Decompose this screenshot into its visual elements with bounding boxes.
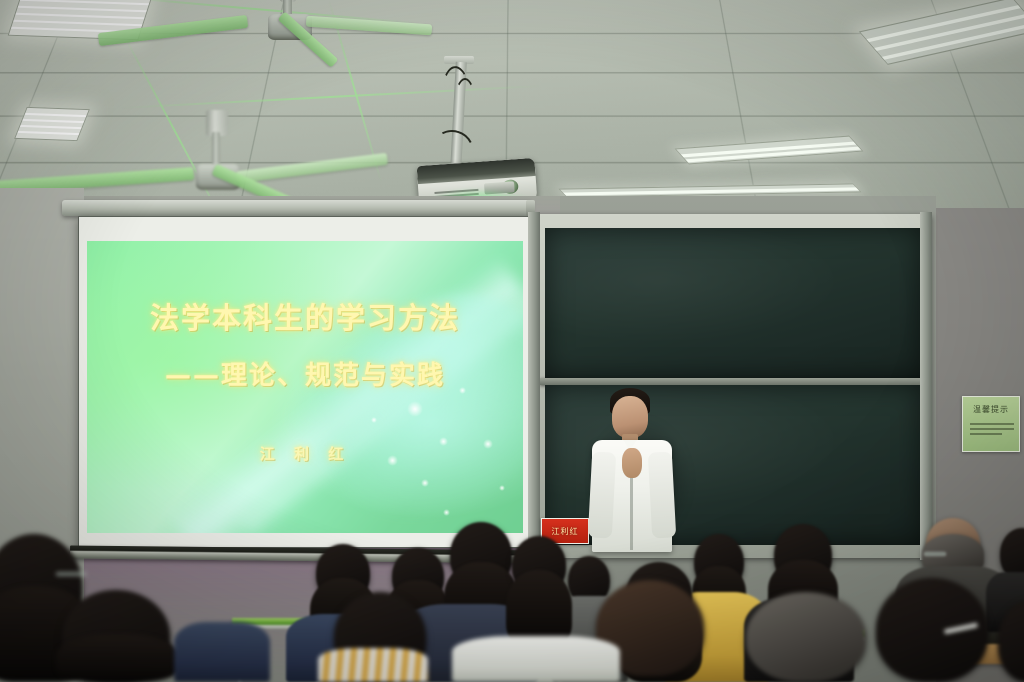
projected-slide: 法学本科生的学习方法 ——理论、规范与实践 江 利 红: [87, 241, 523, 533]
audience-head-foreground: [746, 592, 866, 682]
eyeglasses-icon: [56, 572, 86, 576]
light-panel-icon: [14, 107, 90, 141]
projection-screen: 法学本科生的学习方法 ——理论、规范与实践 江 利 红: [78, 216, 530, 548]
audience-hair-foreground: [56, 634, 180, 682]
presenter-left-arm: [588, 451, 616, 538]
blackboard-right-jamb: [920, 212, 932, 560]
ceiling-fan-icon: [180, 110, 390, 200]
audience-body-foreground: [174, 622, 270, 682]
presenter-right-arm: [648, 451, 676, 538]
slide-sparkle: [371, 417, 377, 423]
notice-sign-title: 温馨提示: [963, 404, 1019, 415]
slide-sparkle: [421, 479, 429, 487]
screen-roller-housing: [62, 200, 532, 216]
slide-presenter-name: 江 利 红: [87, 443, 523, 464]
slide-title: 法学本科生的学习方法: [87, 295, 523, 337]
blackboard-upper: [545, 228, 921, 378]
presenter: [584, 386, 694, 556]
slide-subtitle: ——理论、规范与实践: [87, 355, 523, 392]
blackboard-divider: [540, 378, 926, 385]
blackboard-left-jamb: [528, 212, 540, 560]
presenter-hands: [622, 448, 642, 478]
red-placard-text: 江利红: [552, 526, 579, 537]
slide-sparkle: [443, 509, 450, 516]
presenter-head: [612, 396, 648, 438]
eyeglasses-icon: [924, 552, 946, 556]
slide-sparkle: [499, 485, 505, 491]
audience-body-foreground: [318, 648, 428, 682]
classroom-photo: 法学本科生的学习方法 ——理论、规范与实践 江 利 红 江利红 温馨提示: [0, 0, 1024, 682]
audience-body-foreground: [452, 636, 620, 682]
audience-head-foreground: [876, 578, 988, 682]
notice-sign: 温馨提示: [962, 396, 1020, 452]
ceiling-fan-icon: [232, 0, 422, 64]
slide-sparkle: [407, 401, 423, 417]
